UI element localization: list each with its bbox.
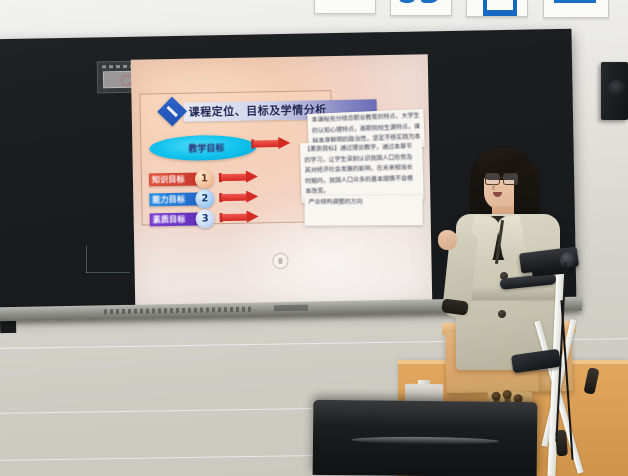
- rack-knob: [503, 390, 512, 399]
- speaker-cone-icon: [608, 80, 625, 97]
- coat-belt: [460, 288, 556, 299]
- hand: [438, 230, 457, 250]
- bezel-brand-logo: [274, 305, 308, 312]
- poster-shape-icon: [483, 0, 517, 17]
- poster-shape-icon: [421, 0, 439, 3]
- monitor-gleam: [313, 400, 537, 428]
- chalk-mark: [86, 272, 130, 273]
- projection-screen[interactable]: 课程定位、目标及学情分析 教学目标 知识目标 1 能力目标: [131, 54, 432, 307]
- nose: [492, 184, 495, 190]
- poster-shape-icon: [554, 0, 596, 3]
- monitor-vent: [351, 436, 499, 445]
- camera-lens-icon: [560, 252, 576, 268]
- screen-vignette: [131, 54, 432, 307]
- rack-knob: [492, 392, 501, 401]
- poster-shape-icon: [399, 0, 415, 3]
- wall-poster-1: [314, 0, 376, 14]
- foreground-monitor: [313, 400, 538, 476]
- chalk-mark: [86, 245, 87, 273]
- sleeve-cuff: [441, 298, 469, 315]
- wall-speaker: [601, 62, 628, 120]
- bezel-control-buttons[interactable]: [104, 307, 254, 315]
- wall-poster-2: [390, 0, 452, 16]
- wall-poster-3: [466, 0, 528, 17]
- wall-poster-4: [543, 0, 609, 18]
- glasses-icon: [485, 173, 518, 184]
- classroom-photo-scene: 课程定位、目标及学情分析 教学目标 知识目标 1 能力目标: [0, 0, 628, 476]
- coat-button: [498, 310, 506, 318]
